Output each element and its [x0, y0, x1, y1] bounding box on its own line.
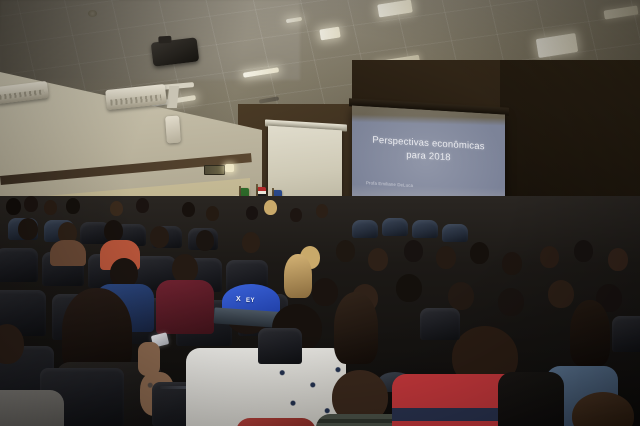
seat	[352, 220, 378, 238]
audience-head	[150, 226, 169, 248]
audience-head	[574, 240, 593, 262]
audience-area: X EY	[0, 196, 640, 426]
audience-hair-long	[334, 292, 378, 364]
audience-head	[172, 254, 198, 283]
audience-head	[24, 196, 38, 212]
audience-head	[548, 280, 574, 308]
emergency-light	[225, 164, 234, 172]
audience-head	[608, 248, 628, 271]
audience-head	[110, 201, 123, 216]
audience-head	[136, 198, 149, 213]
audience-head	[104, 220, 123, 242]
audience-head	[396, 274, 422, 302]
exit-sign	[204, 165, 225, 175]
audience-torso	[50, 240, 86, 266]
cap-logo-text: EY	[246, 298, 255, 304]
ac-grill	[0, 89, 44, 100]
audience-head	[368, 248, 388, 271]
audience-head	[182, 202, 195, 217]
audience-head	[470, 242, 489, 264]
audience-head	[18, 218, 38, 240]
auditorium-photo: Perspectivas econômicas para 2018 Profa …	[0, 0, 640, 426]
seat	[382, 218, 408, 236]
audience-torso-grey	[0, 390, 64, 426]
audience-hair-long	[284, 254, 312, 298]
audience-head	[316, 204, 328, 218]
audience-head	[206, 206, 219, 221]
audience-head	[290, 208, 302, 222]
seat	[612, 316, 640, 352]
audience-torso-maroon	[156, 280, 214, 334]
audience-head	[498, 288, 524, 316]
audience-head	[196, 230, 214, 251]
audience-torso-dark	[498, 372, 564, 426]
audience-head	[66, 198, 80, 214]
cap-logo-text: X	[236, 296, 241, 303]
seat	[258, 328, 302, 364]
audience-head	[242, 232, 260, 253]
wall-speaker	[165, 116, 181, 144]
audience-arm	[138, 342, 160, 376]
audience-head	[6, 198, 21, 215]
seat	[420, 308, 460, 340]
ac-grill	[110, 94, 162, 105]
audience-torso-red	[236, 418, 316, 426]
audience-head	[502, 252, 522, 275]
audience-head	[44, 200, 57, 215]
audience-head	[264, 200, 277, 215]
audience-head	[540, 246, 559, 268]
seat	[442, 224, 468, 242]
audience-head	[336, 240, 355, 262]
audience-head	[436, 246, 456, 269]
ceiling-fixture	[88, 10, 97, 17]
audience-head	[448, 282, 474, 310]
audience-head	[312, 278, 338, 306]
seat	[412, 220, 438, 238]
audience-head	[246, 206, 258, 220]
seat	[0, 248, 38, 282]
audience-hair-long	[570, 300, 610, 366]
audience-head	[404, 240, 423, 262]
